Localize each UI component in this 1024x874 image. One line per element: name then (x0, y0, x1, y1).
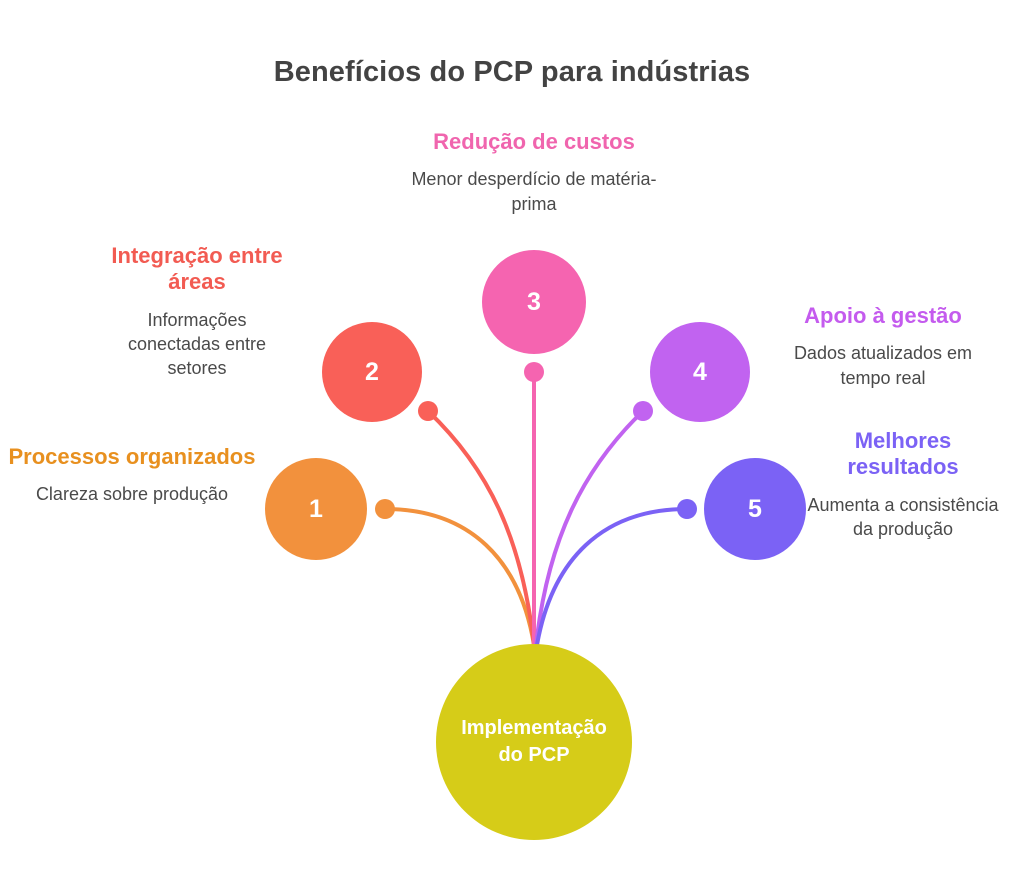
connector-stem-5 (537, 509, 687, 645)
node-circle-1[interactable]: 1 (265, 458, 367, 560)
node-circle-3[interactable]: 3 (482, 250, 586, 354)
stem-dot-1 (375, 499, 395, 519)
stem-dot-3 (524, 362, 544, 382)
node-number-1: 1 (309, 495, 323, 524)
label-description-4: Dados atualizados em tempo real (749, 341, 1017, 390)
label-heading-1: Processos organizados (8, 444, 256, 470)
node-number-5: 5 (748, 495, 762, 524)
node-circle-2[interactable]: 2 (322, 322, 422, 422)
node-number-2: 2 (365, 358, 379, 387)
label-block-3: Redução de custos Menor desperdício de m… (374, 129, 694, 216)
label-heading-4: Apoio à gestão (749, 303, 1017, 329)
label-description-1: Clareza sobre produção (8, 482, 256, 506)
node-number-3: 3 (527, 288, 541, 317)
label-block-1: Processos organizados Clareza sobre prod… (8, 444, 256, 507)
connector-stem-2 (428, 411, 534, 645)
label-heading-3: Redução de custos (374, 129, 694, 155)
node-number-4: 4 (693, 358, 707, 387)
hub-circle-implementation[interactable]: Implementação do PCP (436, 644, 632, 840)
label-block-5: Melhores resultados Aumenta a consistênc… (790, 428, 1016, 541)
hub-label-line2: do PCP (498, 742, 569, 769)
connector-stem-4 (536, 411, 643, 645)
label-heading-2: Integração entre áreas (58, 243, 336, 296)
stem-dot-2 (418, 401, 438, 421)
label-block-2: Integração entre áreas Informações conec… (58, 243, 336, 381)
stem-dot-5 (677, 499, 697, 519)
hub-label-line1: Implementação (461, 715, 607, 742)
connector-stem-1 (385, 509, 534, 645)
label-description-2: Informações conectadas entre setores (58, 308, 336, 381)
stem-dot-4 (633, 401, 653, 421)
label-description-3: Menor desperdício de matéria-prima (374, 167, 694, 216)
label-description-5: Aumenta a consistência da produção (790, 493, 1016, 542)
label-heading-5: Melhores resultados (790, 428, 1016, 481)
label-block-4: Apoio à gestão Dados atualizados em temp… (749, 303, 1017, 390)
node-circle-4[interactable]: 4 (650, 322, 750, 422)
diagram-canvas: Benefícios do PCP para indústrias 1 2 3 … (0, 0, 1024, 874)
